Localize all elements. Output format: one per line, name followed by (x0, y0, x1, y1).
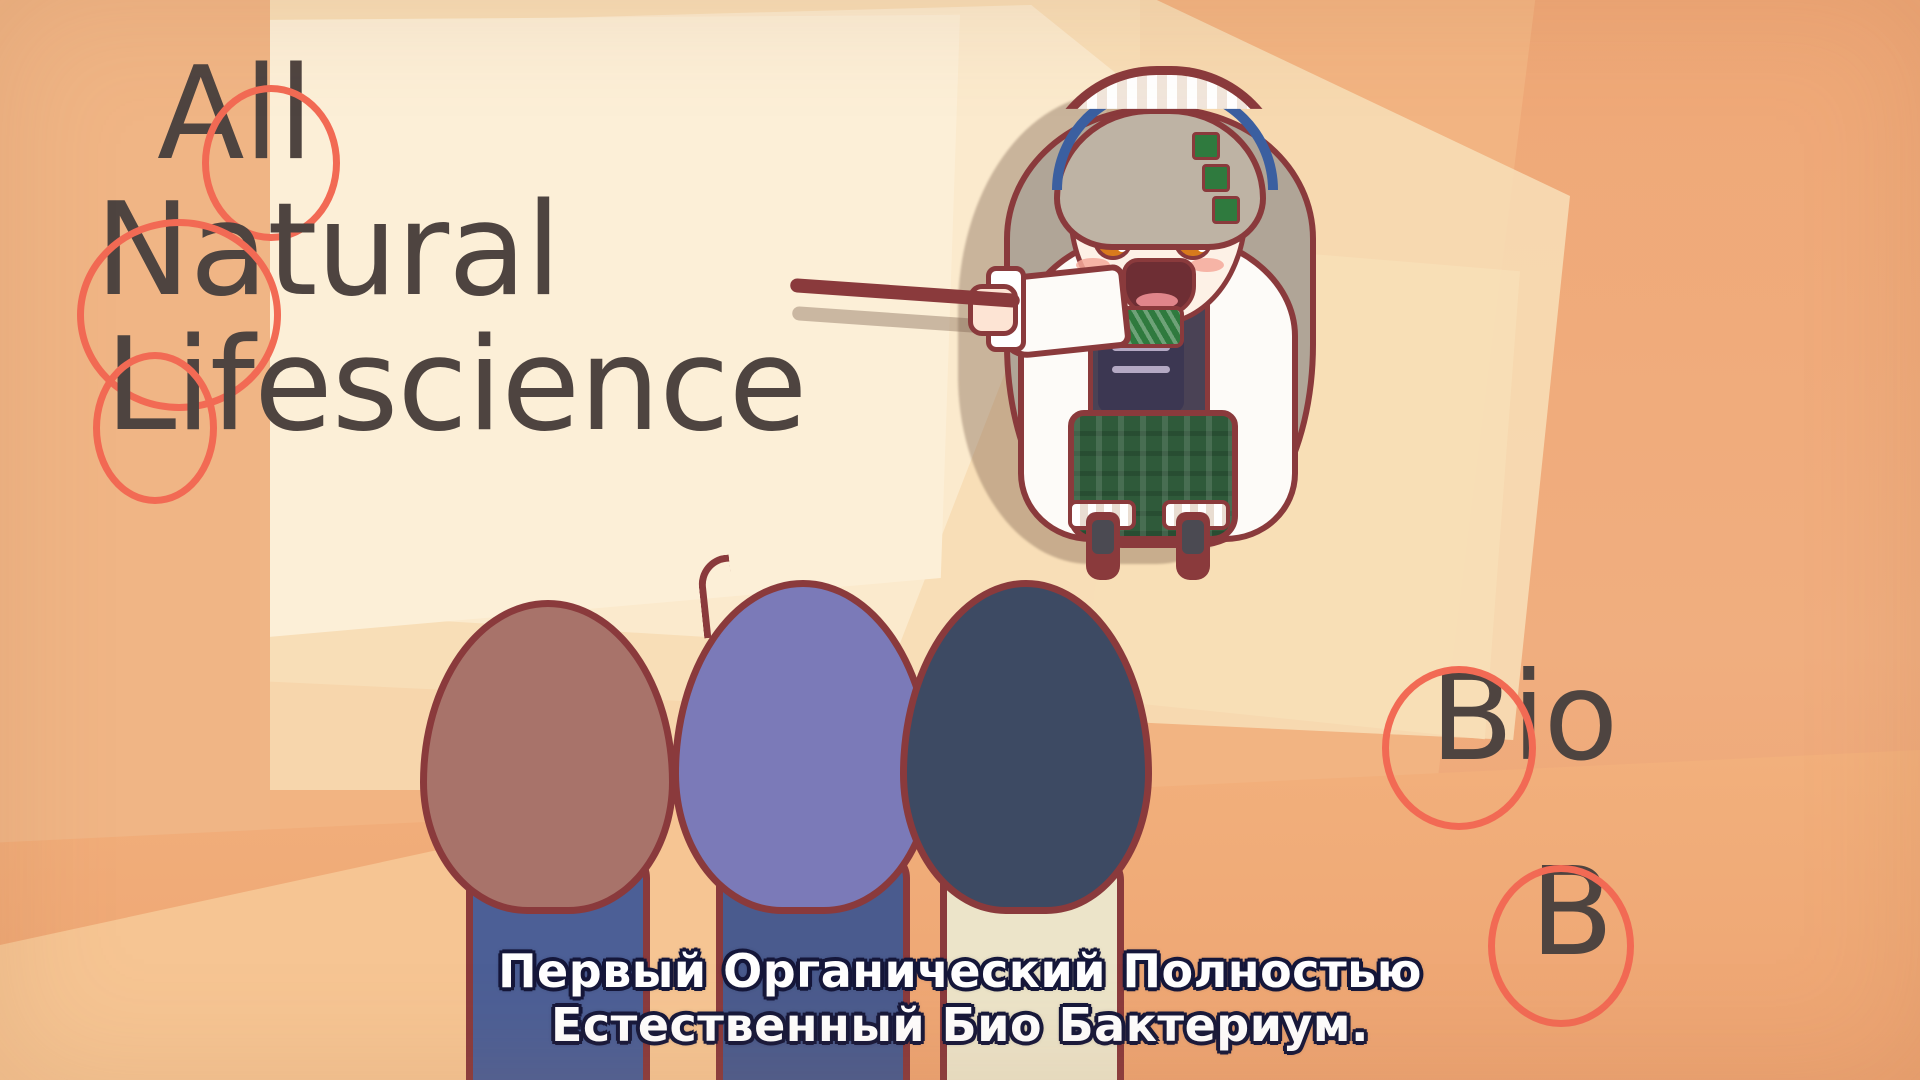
slide-line-1: All (157, 55, 995, 175)
slide-line-1-circled: A (157, 40, 244, 189)
character-shoe-left (1092, 520, 1114, 554)
slide-line-1-rest: ll (244, 40, 313, 189)
student-hair (420, 600, 676, 914)
slide-line-2-circled: Na (95, 176, 267, 325)
slide-corner-bio-circled: B (1430, 646, 1512, 788)
slide-line-3-rest: ifescience (175, 311, 806, 460)
slide-line-3-circled: L (105, 311, 175, 460)
character-vest-lace-3 (1112, 366, 1170, 373)
student-hair (900, 580, 1152, 914)
subtitle-line-1: Первый Органический Полностью (0, 945, 1920, 998)
character-leg-left (1086, 512, 1120, 580)
presenter-character (940, 60, 1380, 580)
character-leg-right (1176, 512, 1210, 580)
slide-corner-bio-rest: io (1512, 646, 1617, 788)
subtitle-line-2: Естественный Био Бактериум. (0, 999, 1920, 1052)
slide-line-3: Lifescience (105, 326, 995, 446)
subtitle-overlay: Первый Органический Полностью Естественн… (0, 945, 1920, 1052)
slide-headline: All Natural Lifescience (95, 55, 995, 446)
character-shoe-right (1182, 520, 1204, 554)
slide-corner-bio: Bio (1430, 660, 1616, 776)
slide-line-2-rest: tural (267, 176, 560, 325)
screenshot-frame: All Natural Lifescience Bio B (0, 0, 1920, 1080)
character-hair-bow-2 (1202, 164, 1230, 192)
character-hair-bow-1 (1192, 132, 1220, 160)
character-hair-bow-3 (1212, 196, 1240, 224)
